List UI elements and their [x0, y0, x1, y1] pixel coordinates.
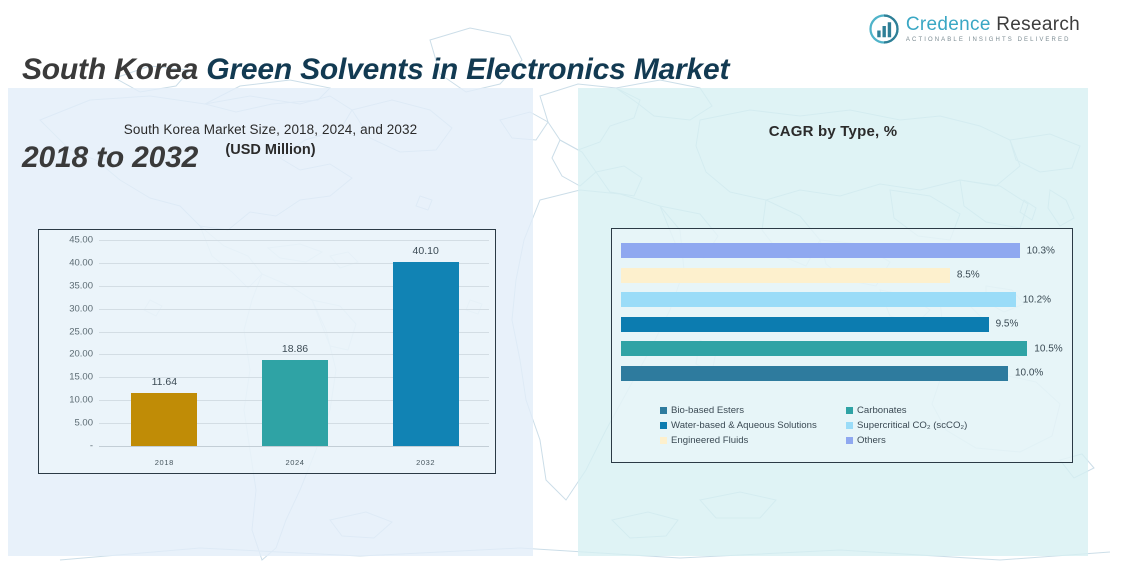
market-size-bar-chart: 45.0040.0035.0030.0025.0020.0015.0010.00…	[38, 229, 496, 474]
legend-swatch-icon	[660, 422, 667, 429]
cagr-bar-5	[621, 341, 1027, 356]
bar-value-label: 11.64	[101, 376, 227, 388]
legend-item[interactable]: Supercritical CO₂ (scCO₂)	[846, 420, 1060, 431]
cagr-bar-1	[621, 243, 1020, 258]
cagr-bar-3	[621, 292, 1016, 307]
y-axis-tick-label: 25.00	[39, 326, 93, 337]
page-title: South Korea Green Solvents in Electronic…	[22, 4, 902, 180]
x-axis-category-label: 2032	[393, 458, 459, 467]
legend-item[interactable]: Carbonates	[846, 405, 1060, 416]
y-axis-tick-label: 20.00	[39, 349, 93, 360]
cagr-bar-row: 10.0%	[621, 366, 1064, 381]
y-axis-tick-label: 40.00	[39, 257, 93, 268]
logo-tagline: Actionable Insights Delivered	[906, 37, 1080, 43]
page-title-years: 2018 to 2032	[22, 141, 198, 174]
bar-chart-circle-icon	[869, 14, 899, 44]
cagr-bar-row: 10.2%	[621, 292, 1064, 307]
cagr-bar-row: 10.3%	[621, 243, 1064, 258]
cagr-by-type-bar-chart: 10.3%8.5%10.2%9.5%10.5%10.0% Bio-based E…	[611, 228, 1073, 463]
y-axis-tick-label: 30.00	[39, 303, 93, 314]
legend-label: Others	[857, 435, 886, 446]
y-axis-tick-label: 45.00	[39, 235, 93, 246]
cagr-bar-2	[621, 268, 950, 283]
legend-label: Carbonates	[857, 405, 907, 416]
cagr-plot-area: 10.3%8.5%10.2%9.5%10.5%10.0%	[621, 241, 1064, 389]
cagr-legend: Bio-based EstersCarbonatesWater-based & …	[660, 405, 1060, 446]
cagr-bar-value-label: 10.0%	[1015, 368, 1043, 379]
legend-swatch-icon	[846, 437, 853, 444]
cagr-bar-row: 8.5%	[621, 268, 1064, 283]
bar-2032	[393, 262, 459, 446]
x-axis-category-label: 2024	[262, 458, 328, 467]
bar-2018	[131, 393, 197, 446]
page-header: South Korea Green Solvents in Electronic…	[0, 0, 1132, 88]
legend-label: Bio-based Esters	[671, 405, 744, 416]
logo-text: Credence Research Actionable Insights De…	[906, 15, 1080, 43]
logo-wordmark: Credence Research	[906, 15, 1080, 34]
credence-research-logo: Credence Research Actionable Insights De…	[869, 14, 1080, 44]
bar-column: 11.642018	[131, 230, 197, 475]
x-axis-category-label: 2018	[131, 458, 197, 467]
y-axis-tick-label: 35.00	[39, 280, 93, 291]
legend-item[interactable]: Bio-based Esters	[660, 405, 846, 416]
bar-value-label: 40.10	[363, 245, 489, 257]
cagr-bar-value-label: 8.5%	[957, 270, 980, 281]
page-title-plain: South Korea	[22, 53, 206, 86]
bar-column: 40.102032	[393, 230, 459, 475]
legend-label: Water-based & Aqueous Solutions	[671, 420, 817, 431]
cagr-bar-value-label: 10.2%	[1023, 294, 1051, 305]
bar-column: 18.862024	[262, 230, 328, 475]
cagr-bar-value-label: 10.5%	[1034, 343, 1062, 354]
legend-swatch-icon	[846, 422, 853, 429]
cagr-bar-6	[621, 366, 1008, 381]
legend-label: Engineered Fluids	[671, 435, 748, 446]
legend-item[interactable]: Water-based & Aqueous Solutions	[660, 420, 846, 431]
legend-item[interactable]: Others	[846, 435, 1060, 446]
cagr-bar-4	[621, 317, 989, 332]
y-axis-tick-label: 15.00	[39, 372, 93, 383]
legend-swatch-icon	[660, 407, 667, 414]
market-size-plot-area: 45.0040.0035.0030.0025.0020.0015.0010.00…	[39, 230, 495, 473]
cagr-bar-value-label: 10.3%	[1027, 245, 1055, 256]
bar-2024	[262, 360, 328, 446]
y-axis-tick-label: 5.00	[39, 418, 93, 429]
legend-label: Supercritical CO₂ (scCO₂)	[857, 420, 967, 431]
cagr-bar-value-label: 9.5%	[996, 319, 1019, 330]
logo-word-research: Research	[991, 14, 1080, 35]
bar-value-label: 18.86	[232, 343, 358, 355]
y-axis-tick-label: -	[39, 441, 93, 452]
page-title-accent: Green Solvents in Electronics Market	[206, 53, 729, 86]
y-axis-tick-label: 10.00	[39, 395, 93, 406]
legend-item[interactable]: Engineered Fluids	[660, 435, 846, 446]
cagr-bar-row: 9.5%	[621, 317, 1064, 332]
logo-word-credence: Credence	[906, 14, 991, 35]
legend-swatch-icon	[846, 407, 853, 414]
cagr-bar-row: 10.5%	[621, 341, 1064, 356]
legend-swatch-icon	[660, 437, 667, 444]
